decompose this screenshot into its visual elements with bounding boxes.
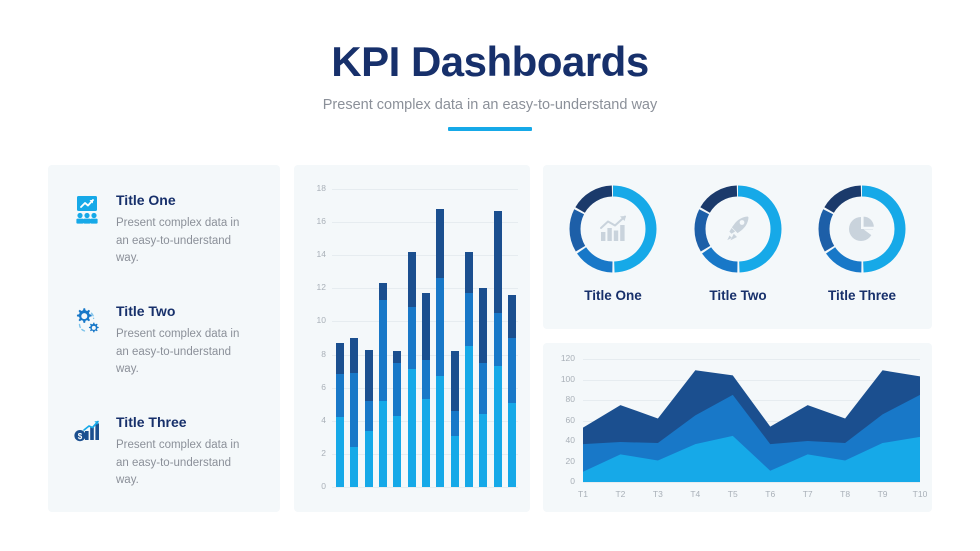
bar-segment xyxy=(451,411,459,436)
page-title: KPI Dashboards xyxy=(0,40,980,84)
area-chart-x-tick: T4 xyxy=(682,489,708,499)
bar-segment xyxy=(408,307,416,370)
bar-segment xyxy=(336,417,344,487)
bar-chart[interactable]: 024681012141618 xyxy=(294,165,530,512)
feature-item-three[interactable]: $ Title Three Present complex data in an… xyxy=(70,413,266,489)
bar-chart-bar[interactable] xyxy=(465,252,473,487)
area-chart-x-tick: T10 xyxy=(907,489,933,499)
area-chart-x-tick: T8 xyxy=(832,489,858,499)
bar-chart-bar[interactable] xyxy=(408,252,416,487)
bar-chart-y-tick: 16 xyxy=(304,216,326,226)
bar-chart-bar[interactable] xyxy=(494,211,502,487)
bar-segment xyxy=(508,295,516,338)
pie-chart-icon xyxy=(816,183,908,275)
donut-charts-panel: Title One Title xyxy=(543,165,932,329)
feature-item-one[interactable]: Title One Present complex data in an eas… xyxy=(70,191,266,267)
bar-segment xyxy=(494,211,502,314)
bar-chart-bar[interactable] xyxy=(379,283,387,487)
area-chart-plot xyxy=(543,343,932,512)
bar-segment xyxy=(436,376,444,487)
bar-chart-bar[interactable] xyxy=(508,295,516,487)
bar-chart-gridline xyxy=(332,487,518,488)
bar-chart-y-tick: 6 xyxy=(304,382,326,392)
donut-label: Title One xyxy=(563,288,663,303)
bar-chart-bar[interactable] xyxy=(422,293,430,487)
donut-item-one[interactable]: Title One xyxy=(563,183,663,303)
donut-chart[interactable] xyxy=(816,183,908,275)
bar-segment xyxy=(436,278,444,376)
bar-segment xyxy=(465,293,473,346)
feature-item-two[interactable]: Title Two Present complex data in an eas… xyxy=(70,302,266,378)
donut-chart[interactable] xyxy=(567,183,659,275)
area-chart-x-tick: T7 xyxy=(795,489,821,499)
bar-chart-bar[interactable] xyxy=(479,288,487,487)
accent-divider xyxy=(448,127,532,131)
donut-chart[interactable] xyxy=(692,183,784,275)
donut-label: Title Two xyxy=(688,288,788,303)
bar-segment xyxy=(365,350,373,401)
area-chart-x-tick: T2 xyxy=(607,489,633,499)
area-chart[interactable]: 020406080100120T1T2T3T4T5T6T7T8T9T10 xyxy=(543,343,932,512)
area-chart-panel: 020406080100120T1T2T3T4T5T6T7T8T9T10 xyxy=(543,343,932,512)
svg-text:$: $ xyxy=(78,432,83,441)
presentation-growth-people-icon xyxy=(70,193,104,227)
bar-chart-y-tick: 12 xyxy=(304,282,326,292)
bar-chart-bar[interactable] xyxy=(451,351,459,487)
bar-segment xyxy=(350,373,358,448)
page-subtitle: Present complex data in an easy-to-under… xyxy=(0,97,980,113)
bar-segment xyxy=(408,252,416,307)
bar-segment xyxy=(465,252,473,293)
bar-segment xyxy=(350,338,358,373)
bar-chart-y-tick: 4 xyxy=(304,415,326,425)
bar-chart-y-tick: 18 xyxy=(304,183,326,193)
bar-segment xyxy=(365,401,373,431)
area-chart-x-tick: T3 xyxy=(645,489,671,499)
area-chart-x-tick: T6 xyxy=(757,489,783,499)
bar-segment xyxy=(465,346,473,487)
bar-segment xyxy=(336,374,344,417)
bar-chart-bar[interactable] xyxy=(336,343,344,487)
bar-segment xyxy=(393,351,401,363)
dollar-coin-bar-growth-icon: $ xyxy=(70,415,104,449)
bar-chart-bar[interactable] xyxy=(350,338,358,487)
bar-segment xyxy=(436,209,444,279)
feature-title: Title Two xyxy=(116,302,266,319)
feature-title: Title Three xyxy=(116,413,266,430)
feature-title: Title One xyxy=(116,191,266,208)
feature-description: Present complex data in an easy-to-under… xyxy=(116,215,251,267)
bar-segment xyxy=(379,401,387,487)
bar-segment xyxy=(379,300,387,401)
bar-segment xyxy=(494,366,502,487)
donut-label: Title Three xyxy=(812,288,912,303)
bar-chart-y-tick: 0 xyxy=(304,481,326,491)
bar-segment xyxy=(408,369,416,487)
bar-chart-bar[interactable] xyxy=(436,209,444,487)
bar-segment xyxy=(422,360,430,400)
feature-description: Present complex data in an easy-to-under… xyxy=(116,326,251,378)
bar-segment xyxy=(350,447,358,487)
area-chart-x-tick: T1 xyxy=(570,489,596,499)
bar-segment xyxy=(451,351,459,411)
bar-chart-panel: 024681012141618 xyxy=(294,165,530,512)
rocket-icon xyxy=(692,183,784,275)
bar-segment xyxy=(393,363,401,416)
bar-segment xyxy=(336,343,344,374)
bar-chart-gridline xyxy=(332,222,518,223)
area-chart-x-tick: T9 xyxy=(870,489,896,499)
gears-icon xyxy=(70,304,104,338)
bar-segment xyxy=(365,431,373,487)
bar-chart-bar[interactable] xyxy=(365,350,373,487)
bar-chart-y-tick: 8 xyxy=(304,349,326,359)
bar-chart-gridline xyxy=(332,189,518,190)
bar-chart-y-tick: 10 xyxy=(304,315,326,325)
bar-chart-gridline xyxy=(332,255,518,256)
donut-item-two[interactable]: Title Two xyxy=(688,183,788,303)
bar-segment xyxy=(479,363,487,414)
feature-description: Present complex data in an easy-to-under… xyxy=(116,437,251,489)
bar-chart-y-tick: 14 xyxy=(304,249,326,259)
features-panel: Title One Present complex data in an eas… xyxy=(48,165,280,512)
bar-segment xyxy=(379,283,387,300)
bar-segment xyxy=(479,288,487,362)
bar-chart-bar[interactable] xyxy=(393,351,401,487)
bar-segment xyxy=(451,436,459,487)
bar-segment xyxy=(422,399,430,487)
bar-segment xyxy=(508,403,516,487)
bar-segment xyxy=(494,313,502,366)
bar-chart-y-tick: 2 xyxy=(304,448,326,458)
bar-segment xyxy=(479,414,487,487)
bar-segment xyxy=(422,293,430,359)
bar-segment xyxy=(393,416,401,487)
bar-chart-growth-icon xyxy=(567,183,659,275)
bar-chart-gridline xyxy=(332,288,518,289)
area-chart-x-tick: T5 xyxy=(720,489,746,499)
page-header: KPI Dashboards Present complex data in a… xyxy=(0,0,980,131)
donut-item-three[interactable]: Title Three xyxy=(812,183,912,303)
bar-segment xyxy=(508,338,516,403)
